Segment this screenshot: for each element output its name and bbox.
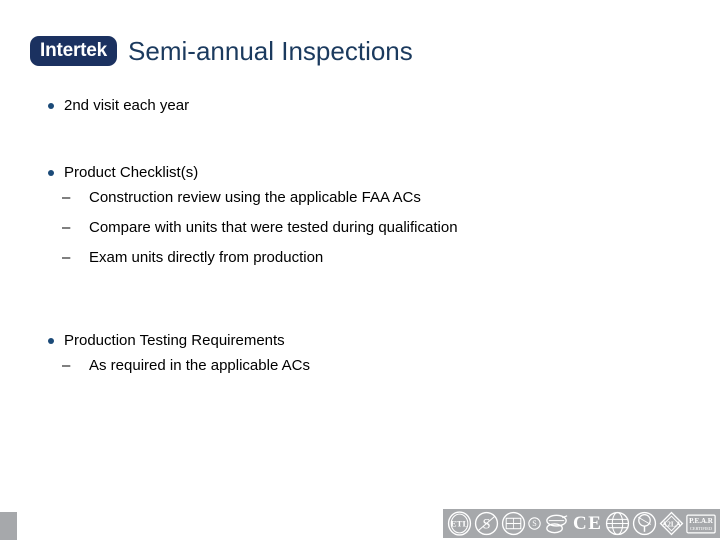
s-small-mark: S bbox=[528, 517, 541, 530]
sub-bullet-item: – Construction review using the applicab… bbox=[44, 183, 684, 213]
s-certification-mark: S bbox=[474, 511, 499, 536]
sub-bullet-label: As required in the applicable ACs bbox=[89, 357, 310, 374]
pear-mark: P.E.A.R CERTIFIED bbox=[686, 514, 716, 534]
svg-text:P.E.A.R: P.E.A.R bbox=[689, 517, 714, 525]
svg-text:S: S bbox=[532, 519, 537, 528]
intertek-logo: Intertek bbox=[30, 36, 117, 66]
footer-corner-block bbox=[0, 512, 17, 540]
dash-icon: – bbox=[62, 183, 70, 213]
spacer bbox=[44, 273, 684, 331]
ce-mark: CE bbox=[572, 514, 603, 533]
sub-bullet-item: – As required in the applicable ACs bbox=[44, 351, 684, 381]
dash-icon: – bbox=[62, 243, 70, 273]
tree-mark bbox=[632, 511, 657, 536]
svg-text:ETL: ETL bbox=[451, 519, 469, 529]
content-block: Production Testing Requirements – As req… bbox=[44, 331, 684, 381]
bullet-label: 2nd visit each year bbox=[64, 97, 189, 114]
content-block: 2nd visit each year bbox=[44, 96, 684, 116]
title-row: Intertek Semi-annual Inspections bbox=[30, 36, 413, 66]
bullet-dot-icon bbox=[48, 338, 54, 344]
warnock-hersey-mark bbox=[501, 511, 526, 536]
sub-bullet-label: Construction review using the applicable… bbox=[89, 189, 421, 206]
page-title: Semi-annual Inspections bbox=[128, 38, 413, 64]
bullet-dot-icon bbox=[48, 103, 54, 109]
svg-text:A2LA: A2LA bbox=[662, 521, 682, 529]
bullet-dot-icon bbox=[48, 170, 54, 176]
slide-body: 2nd visit each year Product Checklist(s)… bbox=[44, 96, 684, 381]
bullet-label: Product Checklist(s) bbox=[64, 164, 198, 181]
dash-icon: – bbox=[62, 351, 70, 381]
sub-bullet-label: Exam units directly from production bbox=[89, 249, 323, 266]
slide: Intertek Semi-annual Inspections 2nd vis… bbox=[0, 0, 720, 540]
bullet-item: Production Testing Requirements bbox=[44, 331, 684, 351]
svg-text:S: S bbox=[482, 517, 490, 533]
svg-text:CERTIFIED: CERTIFIED bbox=[690, 526, 712, 531]
dash-icon: – bbox=[62, 213, 70, 243]
globe-mark bbox=[605, 511, 630, 536]
etl-certification-mark: ETL bbox=[447, 511, 472, 536]
bullet-label: Production Testing Requirements bbox=[64, 332, 285, 349]
bullet-item: Product Checklist(s) bbox=[44, 163, 684, 183]
bullet-item: 2nd visit each year bbox=[44, 96, 684, 116]
diamond-mark: A2LA bbox=[659, 511, 684, 536]
sub-bullet-item: – Compare with units that were tested du… bbox=[44, 213, 684, 243]
content-block: Product Checklist(s) – Construction revi… bbox=[44, 163, 684, 273]
sub-bullet-item: – Exam units directly from production bbox=[44, 243, 684, 273]
semko-mark bbox=[543, 511, 570, 536]
sub-bullet-label: Compare with units that were tested duri… bbox=[89, 219, 458, 236]
certification-marks-strip: ETL S S CE bbox=[443, 509, 720, 538]
spacer bbox=[44, 116, 684, 163]
